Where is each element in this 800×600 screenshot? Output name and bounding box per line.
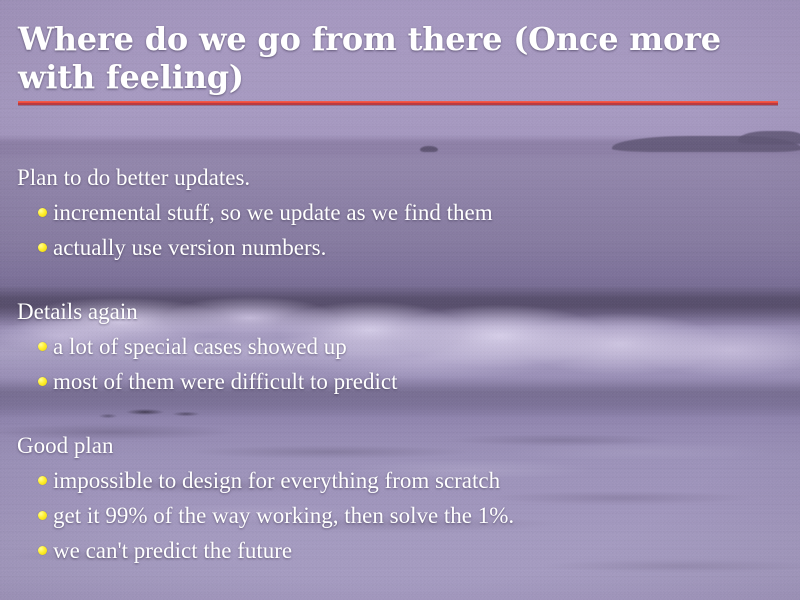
bullet-dot-icon [38, 476, 47, 485]
bullet-group: Good plan impossible to design for every… [0, 428, 800, 568]
group-lead: Good plan [0, 428, 800, 463]
list-item: most of them were difficult to predict [0, 364, 800, 399]
title-underline-rule [18, 101, 778, 106]
group-lead: Details again [0, 294, 800, 329]
bullet-dot-icon [38, 243, 47, 252]
slide-content: Where do we go from there (Once more wit… [0, 0, 800, 600]
list-item: actually use version numbers. [0, 230, 800, 265]
slide-body: Plan to do better updates. incremental s… [0, 160, 800, 568]
group-lead: Plan to do better updates. [0, 160, 800, 195]
list-item-label: a lot of special cases showed up [53, 334, 347, 359]
bullet-dot-icon [38, 208, 47, 217]
list-item: get it 99% of the way working, then solv… [0, 498, 800, 533]
bullet-dot-icon [38, 546, 47, 555]
bullet-dot-icon [38, 342, 47, 351]
list-item-label: impossible to design for everything from… [53, 468, 500, 493]
presentation-slide: Where do we go from there (Once more wit… [0, 0, 800, 600]
list-item: incremental stuff, so we update as we fi… [0, 195, 800, 230]
bullet-dot-icon [38, 511, 47, 520]
list-item-label: actually use version numbers. [53, 235, 326, 260]
list-item-label: get it 99% of the way working, then solv… [53, 503, 514, 528]
list-item: a lot of special cases showed up [0, 329, 800, 364]
list-item: we can't predict the future [0, 533, 800, 568]
list-item: impossible to design for everything from… [0, 463, 800, 498]
bullet-dot-icon [38, 377, 47, 386]
list-item-label: we can't predict the future [53, 538, 292, 563]
bullet-group: Details again a lot of special cases sho… [0, 294, 800, 399]
list-item-label: incremental stuff, so we update as we fi… [53, 200, 493, 225]
bullet-group: Plan to do better updates. incremental s… [0, 160, 800, 265]
slide-title: Where do we go from there (Once more wit… [18, 20, 782, 96]
list-item-label: most of them were difficult to predict [53, 369, 397, 394]
